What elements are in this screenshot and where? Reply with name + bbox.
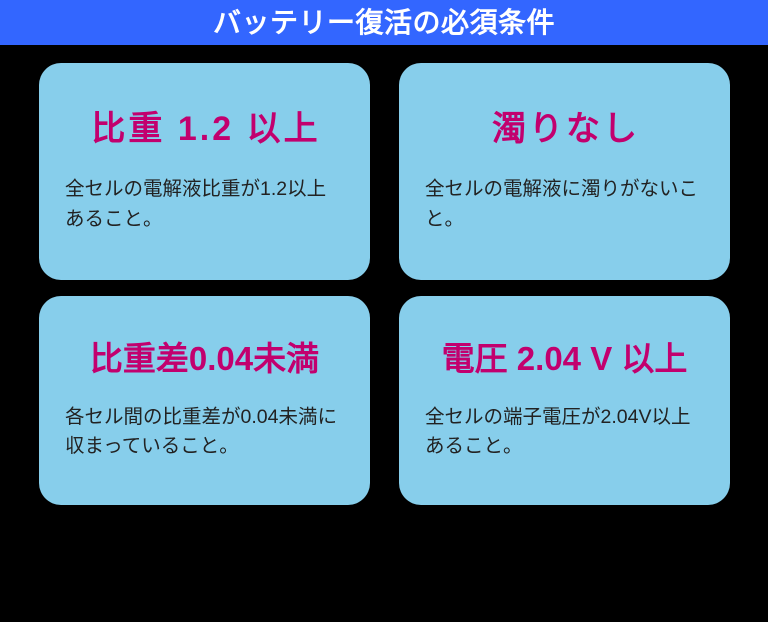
- page-title: バッテリー復活の必須条件: [213, 0, 555, 45]
- card-body-text: 各セル間の比重差が0.04未満に収まっていること。: [65, 403, 344, 462]
- card-body-text: 全セルの端子電圧が2.04V以上あること。: [425, 403, 704, 462]
- card-heading: 比重 1.2 以上: [65, 109, 344, 149]
- card-heading: 濁りなし: [425, 109, 704, 149]
- card-heading: 比重差0.04未満: [65, 340, 344, 379]
- infographic-page: バッテリー復活の必須条件 比重 1.2 以上 全セルの電解液比重が1.2以上ある…: [0, 0, 768, 622]
- card-body-text: 全セルの電解液に濁りがないこと。: [425, 175, 704, 234]
- condition-card-gravity-difference: 比重差0.04未満 各セル間の比重差が0.04未満に収まっていること。: [39, 296, 370, 505]
- condition-card-no-turbidity: 濁りなし 全セルの電解液に濁りがないこと。: [399, 63, 730, 280]
- card-heading: 電圧 2.04 V 以上: [425, 340, 704, 379]
- condition-card-specific-gravity: 比重 1.2 以上 全セルの電解液比重が1.2以上あること。: [39, 63, 370, 280]
- card-body-text: 全セルの電解液比重が1.2以上あること。: [65, 175, 344, 234]
- header-bar: バッテリー復活の必須条件: [0, 0, 768, 45]
- condition-card-voltage: 電圧 2.04 V 以上 全セルの端子電圧が2.04V以上あること。: [399, 296, 730, 505]
- condition-card-grid: 比重 1.2 以上 全セルの電解液比重が1.2以上あること。 濁りなし 全セルの…: [39, 63, 730, 505]
